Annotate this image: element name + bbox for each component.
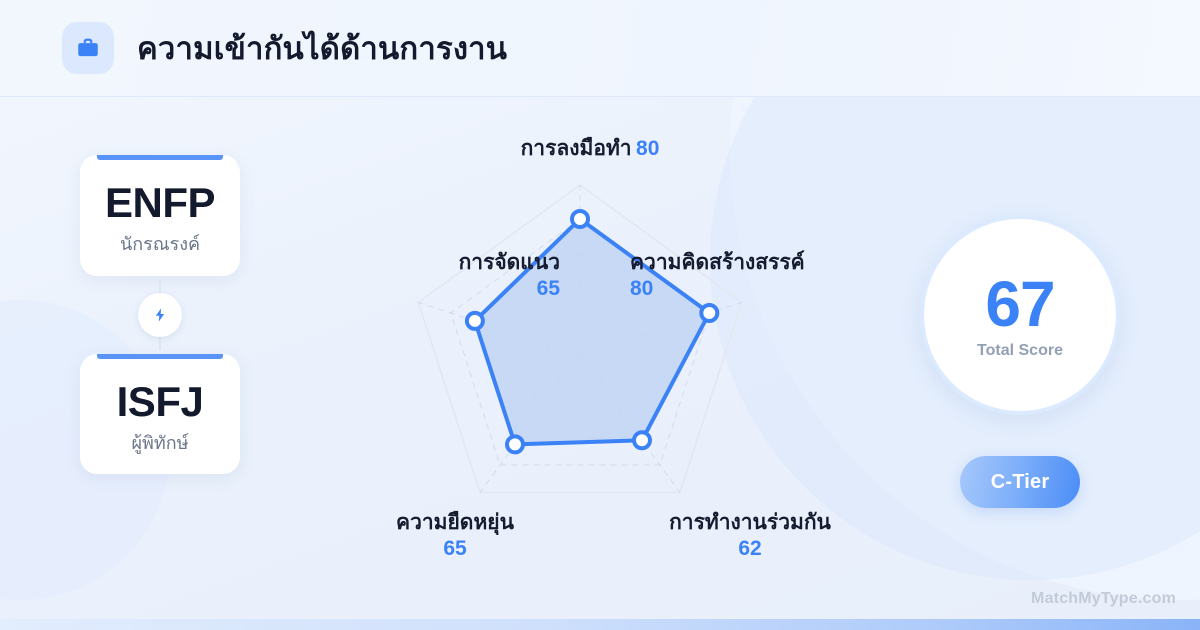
infographic-canvas: ความเข้ากันได้ด้านการงาน ENFP นักรณรงค์ … <box>0 0 1200 630</box>
total-score-circle: 67 Total Score <box>920 215 1120 415</box>
axis-label-execution: การลงมือทำ 80 <box>390 136 790 162</box>
axis-label-flexibility: ความยืดหยุ่น 65 <box>290 510 620 561</box>
type-card-first[interactable]: ENFP นักรณรงค์ <box>80 155 240 276</box>
radar-chart: การลงมือทำ 80 ความคิดสร้างสรรค์ 80 การทำ… <box>300 110 880 590</box>
axis-label-creativity: ความคิดสร้างสรรค์ 80 <box>630 250 960 301</box>
total-score-caption: Total Score <box>977 343 1063 359</box>
total-score-value: 67 <box>985 272 1054 336</box>
type-connector <box>80 276 240 354</box>
briefcase-icon <box>62 22 114 74</box>
card-accent-bar <box>97 155 223 160</box>
card-accent-bar <box>97 354 223 359</box>
radar-vertex-marker <box>701 305 717 321</box>
tier-badge: C-Tier <box>960 456 1080 508</box>
type-pair-panel: ENFP นักรณรงค์ ISFJ ผู้พิทักษ์ <box>80 155 240 474</box>
type-name-first: นักรณรงค์ <box>88 234 232 256</box>
site-watermark: MatchMyType.com <box>1031 590 1176 608</box>
header-bar: ความเข้ากันได้ด้านการงาน <box>0 0 1200 97</box>
radar-vertex-marker <box>572 211 588 227</box>
type-code-first: ENFP <box>88 181 232 225</box>
page-title: ความเข้ากันได้ด้านการงาน <box>137 33 507 64</box>
type-card-second[interactable]: ISFJ ผู้พิทักษ์ <box>80 354 240 475</box>
type-name-second: ผู้พิทักษ์ <box>88 433 232 455</box>
radar-vertex-marker <box>507 436 523 452</box>
radar-vertex-marker <box>467 313 483 329</box>
radar-vertex-marker <box>634 432 650 448</box>
axis-label-alignment: การจัดแนว 65 <box>270 250 560 301</box>
score-panel: 67 Total Score C-Tier <box>920 215 1120 508</box>
bottom-accent-bar <box>0 619 1200 630</box>
type-code-second: ISFJ <box>88 380 232 424</box>
lightning-bolt-icon <box>138 293 182 337</box>
